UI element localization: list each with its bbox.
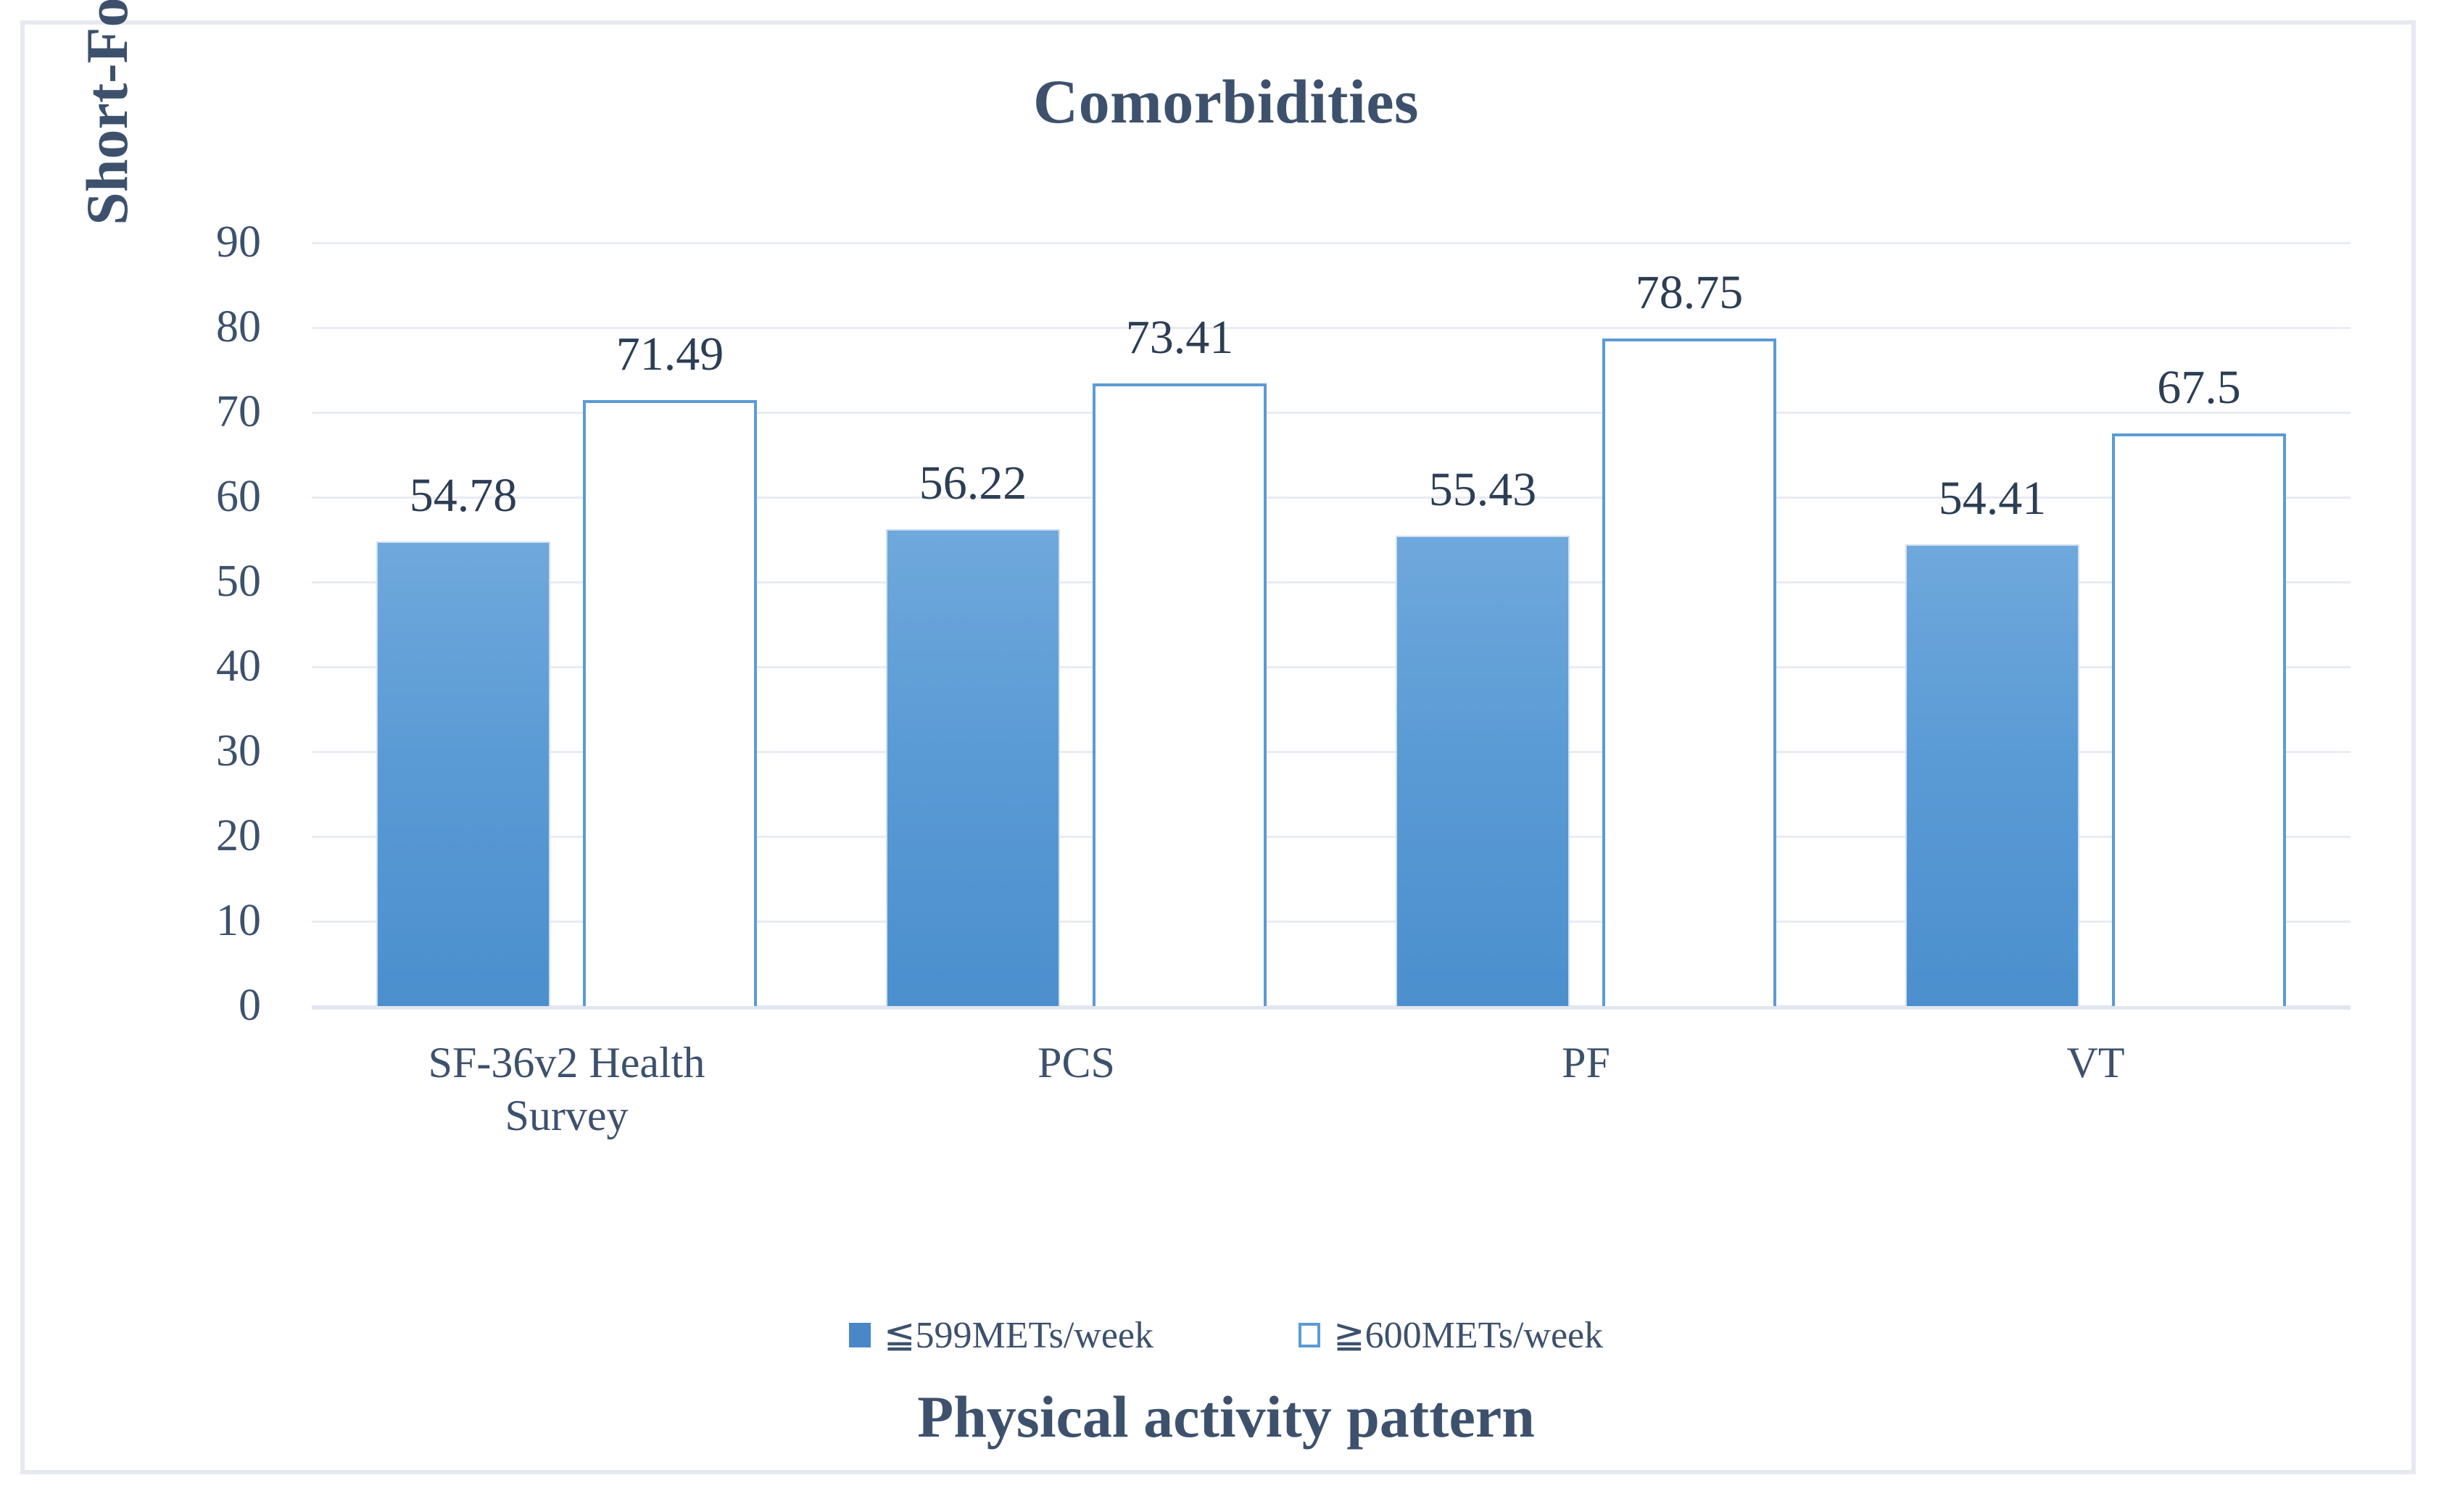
y-axis-tick-label: 20 [109,813,261,858]
x-axis-category-label: SF-36v2 HealthSurvey [313,1037,821,1142]
bar-value-label: 54.78 [326,472,601,520]
legend-swatch-icon [849,1323,871,1347]
legend-item[interactable]: ≧600METs/week [1299,1313,1603,1357]
x-axis-category-label-line: PF [1333,1037,1840,1089]
x-axis-category-label: PF [1333,1037,1840,1089]
y-axis-tick-label: 10 [109,898,261,943]
legend-label: ≧600METs/week [1333,1313,1603,1357]
y-axis-tick-label: 0 [109,983,261,1028]
bar [376,541,550,1006]
bar [886,529,1060,1006]
x-axis-category-label: PCS [823,1037,1330,1089]
y-axis-tick-label: 60 [109,474,261,519]
bar-value-label: 73.41 [1042,314,1317,362]
bar-value-label: 54.41 [1855,475,2130,523]
bar [1093,383,1267,1006]
y-axis-tick-label: 30 [109,728,261,773]
legend-label: ≦599METs/week [884,1313,1153,1357]
bar-value-label: 78.75 [1552,269,1827,317]
chart-title: Comorbidities [0,65,2452,138]
x-axis-category-label-line: VT [1842,1037,2350,1089]
x-axis-category-label-line: SF-36v2 Health [313,1037,821,1089]
bar [583,400,757,1006]
bar-value-label: 56.22 [835,460,1111,507]
x-axis-category-label-line: Survey [313,1089,821,1142]
x-axis-category-label: VT [1842,1037,2350,1089]
bar [1602,338,1776,1006]
bar [1905,544,2079,1006]
y-axis-tick-label: 90 [109,220,261,265]
bar [1396,536,1570,1006]
y-axis-tick-label: 70 [109,389,261,434]
bar-value-label: 71.49 [532,331,808,378]
bar-value-label: 67.5 [2061,364,2337,412]
chart-figure: Comorbidities Short-Form 36 Physical act… [0,0,2452,1512]
bar-value-label: 55.43 [1345,466,1620,514]
y-axis-tick-label: 50 [109,559,261,604]
legend-item[interactable]: ≦599METs/week [849,1313,1153,1357]
bar [2112,433,2286,1006]
x-axis-title: Physical activity pattern [0,1383,2452,1451]
y-axis-tick-label: 40 [109,644,261,689]
chart-legend: ≦599METs/week≧600METs/week [0,1313,2452,1357]
legend-swatch-icon [1299,1323,1320,1347]
plot-area: 54.7871.4956.2273.4155.4378.7554.4167.5 [312,243,2350,1006]
gridline [312,242,2350,244]
y-axis-tick-label: 80 [109,304,261,349]
x-axis-category-label-line: PCS [823,1037,1330,1089]
